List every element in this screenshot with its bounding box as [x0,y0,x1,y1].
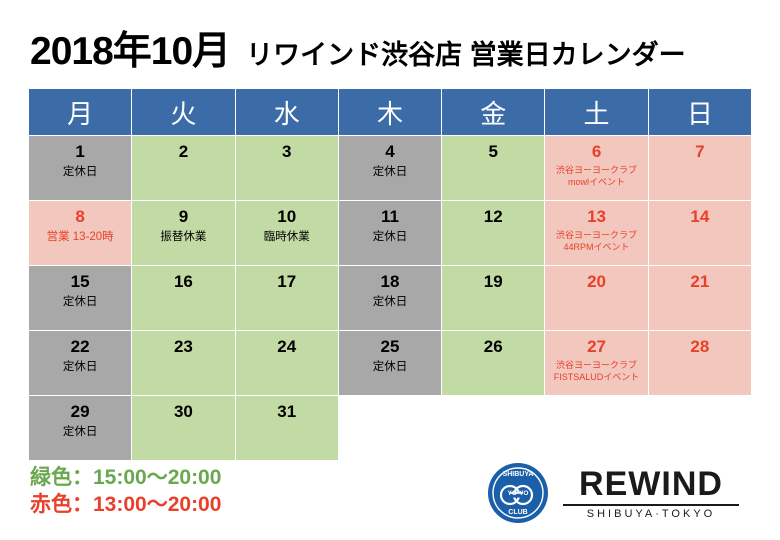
calendar-day-cell[interactable]: 8営業 13-20時 [29,201,132,266]
day-cell-content [442,396,544,460]
calendar-day-cell[interactable]: 24 [235,331,338,396]
day-cell-content: 5 [442,136,544,200]
calendar-day-cell[interactable]: 3 [235,136,338,201]
day-cell-content [649,396,751,460]
calendar-day-cell[interactable]: 9振替休業 [132,201,235,266]
day-note: 渋谷ヨーヨークラブ mowlイベント [556,164,637,188]
day-cell-content: 12 [442,201,544,265]
weekday-header-row: 月火水木金土日 [29,89,752,136]
day-number: 3 [282,142,291,161]
calendar-day-cell[interactable]: 29定休日 [29,396,132,461]
day-number: 24 [277,337,296,356]
day-number: 8 [75,207,84,226]
calendar-empty-cell [648,396,751,461]
calendar-day-cell[interactable]: 7 [648,136,751,201]
day-cell-content: 9振替休業 [132,201,234,265]
day-cell-content: 10臨時休業 [236,201,338,265]
calendar-week-row: 8営業 13-20時9振替休業10臨時休業11定休日1213渋谷ヨーヨークラブ … [29,201,752,266]
shibuya-yoyo-club-logo: SHIBUYA YO-YO CLUB [487,462,549,524]
weekday-header: 土 [545,89,648,136]
calendar-day-cell[interactable]: 31 [235,396,338,461]
calendar-day-cell[interactable]: 20 [545,266,648,331]
weekday-header: 金 [442,89,545,136]
day-number: 23 [174,337,193,356]
day-number: 7 [695,142,704,161]
rewind-logo: REWIND SHIBUYA·TOKYO [563,466,739,520]
day-note: 定休日 [63,425,98,439]
day-cell-content: 8営業 13-20時 [29,201,131,265]
day-cell-content: 7 [649,136,751,200]
legend-red: 赤色：13:00〜20:00 [30,491,221,518]
day-number: 14 [690,207,709,226]
day-cell-content: 28 [649,331,751,395]
rewind-divider [563,504,739,506]
weekday-header: 火 [132,89,235,136]
calendar-day-cell[interactable]: 18定休日 [338,266,441,331]
day-cell-content: 2 [132,136,234,200]
day-number: 1 [75,142,84,161]
day-number: 30 [174,402,193,421]
weekday-header: 水 [235,89,338,136]
day-cell-content: 13渋谷ヨーヨークラブ 44RPMイベント [545,201,647,265]
day-cell-content: 25定休日 [339,331,441,395]
day-cell-content: 22定休日 [29,331,131,395]
legend-green: 緑色：15:00〜20:00 [30,464,221,491]
day-number: 25 [381,337,400,356]
calendar-day-cell[interactable]: 13渋谷ヨーヨークラブ 44RPMイベント [545,201,648,266]
day-note: 渋谷ヨーヨークラブ FISTSALUDイベント [554,359,640,383]
calendar-week-row: 15定休日161718定休日192021 [29,266,752,331]
day-cell-content: 30 [132,396,234,460]
day-note: 営業 13-20時 [47,230,114,244]
day-cell-content: 24 [236,331,338,395]
day-note: 定休日 [373,230,408,244]
calendar-day-cell[interactable]: 16 [132,266,235,331]
calendar-table: 月火水木金土日 1定休日234定休日56渋谷ヨーヨークラブ mowlイベント78… [28,88,752,461]
calendar-day-cell[interactable]: 30 [132,396,235,461]
day-number: 17 [277,272,296,291]
calendar-page: 2018年10月 リワインド渋谷店 営業日カレンダー 月火水木金土日 1定休日2… [0,0,780,540]
day-number: 31 [277,402,296,421]
day-number: 6 [592,142,601,161]
day-cell-content: 11定休日 [339,201,441,265]
calendar-empty-cell [338,396,441,461]
page-title: 2018年10月 リワインド渋谷店 営業日カレンダー [30,20,686,76]
day-number: 19 [484,272,503,291]
day-note: 定休日 [63,165,98,179]
day-number: 15 [71,272,90,291]
title-subtitle: リワインド渋谷店 営業日カレンダー [246,33,686,72]
day-cell-content: 27渋谷ヨーヨークラブ FISTSALUDイベント [545,331,647,395]
day-number: 28 [690,337,709,356]
calendar-empty-cell [545,396,648,461]
logo-text-yoyo: YO-YO [508,490,529,497]
day-note: 定休日 [373,165,408,179]
day-cell-content: 17 [236,266,338,330]
calendar-day-cell[interactable]: 12 [442,201,545,266]
day-cell-content: 26 [442,331,544,395]
title-month: 2018年10月 [30,20,230,76]
rewind-tagline: SHIBUYA·TOKYO [587,508,715,520]
day-number: 9 [179,207,188,226]
day-cell-content: 1定休日 [29,136,131,200]
day-cell-content: 4定休日 [339,136,441,200]
day-cell-content: 18定休日 [339,266,441,330]
calendar-day-cell[interactable]: 1定休日 [29,136,132,201]
calendar-day-cell[interactable]: 17 [235,266,338,331]
day-note: 臨時休業 [264,230,310,244]
calendar-day-cell[interactable]: 27渋谷ヨーヨークラブ FISTSALUDイベント [545,331,648,396]
day-cell-content: 29定休日 [29,396,131,460]
calendar-day-cell[interactable]: 26 [442,331,545,396]
calendar-day-cell[interactable]: 4定休日 [338,136,441,201]
day-cell-content: 15定休日 [29,266,131,330]
day-note: 振替休業 [160,230,206,244]
day-cell-content: 16 [132,266,234,330]
day-number: 2 [179,142,188,161]
day-number: 26 [484,337,503,356]
day-note: 定休日 [373,295,408,309]
calendar-empty-cell [442,396,545,461]
day-note: 定休日 [63,360,98,374]
day-number: 27 [587,337,606,356]
calendar-day-cell[interactable]: 15定休日 [29,266,132,331]
legend: 緑色：15:00〜20:00 赤色：13:00〜20:00 [30,464,221,518]
day-cell-content: 23 [132,331,234,395]
weekday-header: 日 [648,89,751,136]
calendar-day-cell[interactable]: 25定休日 [338,331,441,396]
day-number: 11 [381,207,399,226]
day-cell-content: 20 [545,266,647,330]
calendar-week-row: 29定休日3031 [29,396,752,461]
calendar-day-cell[interactable]: 5 [442,136,545,201]
day-note: 渋谷ヨーヨークラブ 44RPMイベント [556,229,637,253]
calendar-day-cell[interactable]: 14 [648,201,751,266]
day-number: 4 [385,142,394,161]
calendar-week-row: 22定休日232425定休日2627渋谷ヨーヨークラブ FISTSALUDイベン… [29,331,752,396]
day-number: 16 [174,272,193,291]
rewind-wordmark: REWIND [579,466,723,502]
calendar-day-cell[interactable]: 28 [648,331,751,396]
logo-text-club: CLUB [508,509,527,516]
day-number: 22 [71,337,90,356]
day-cell-content: 19 [442,266,544,330]
calendar-week-row: 1定休日234定休日56渋谷ヨーヨークラブ mowlイベント7 [29,136,752,201]
day-cell-content: 21 [649,266,751,330]
day-number: 18 [381,272,400,291]
day-number: 10 [277,207,296,226]
day-cell-content [339,396,441,460]
calendar-day-cell[interactable]: 2 [132,136,235,201]
day-cell-content: 31 [236,396,338,460]
day-note: 定休日 [373,360,408,374]
day-cell-content: 14 [649,201,751,265]
day-number: 21 [690,272,709,291]
day-note: 定休日 [63,295,98,309]
logo-group: SHIBUYA YO-YO CLUB REWIND SHIBUYA·TOKYO [487,462,739,524]
weekday-header: 月 [29,89,132,136]
calendar-day-cell[interactable]: 10臨時休業 [235,201,338,266]
logo-text-shibuya: SHIBUYA [503,471,534,478]
calendar-day-cell[interactable]: 23 [132,331,235,396]
weekday-header: 木 [338,89,441,136]
calendar-day-cell[interactable]: 21 [648,266,751,331]
day-cell-content: 6渋谷ヨーヨークラブ mowlイベント [545,136,647,200]
day-number: 20 [587,272,606,291]
day-number: 29 [71,402,90,421]
day-cell-content [545,396,647,460]
calendar-day-cell[interactable]: 11定休日 [338,201,441,266]
day-number: 13 [587,207,606,226]
calendar-day-cell[interactable]: 22定休日 [29,331,132,396]
day-number: 12 [484,207,503,226]
calendar-day-cell[interactable]: 19 [442,266,545,331]
day-number: 5 [489,142,498,161]
calendar-day-cell[interactable]: 6渋谷ヨーヨークラブ mowlイベント [545,136,648,201]
day-cell-content: 3 [236,136,338,200]
